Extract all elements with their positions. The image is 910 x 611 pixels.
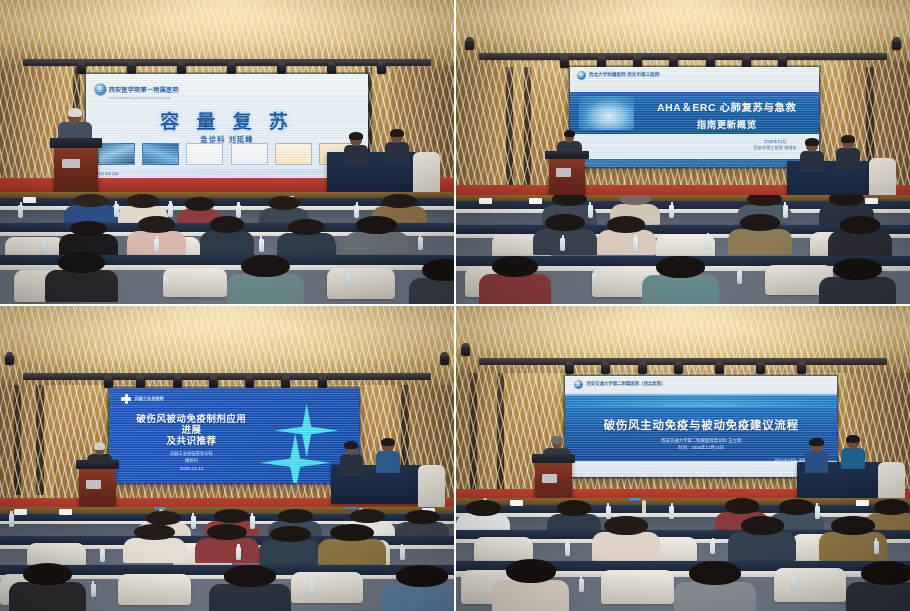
hospital-photo-thumb — [142, 143, 179, 166]
slide-header: 西北大学附属医院·西安市第三医院 — [577, 71, 659, 80]
slide-footer: 仁爱 精进 博学 创新 No.1 Xinyi Road, Xi'an — [86, 169, 367, 178]
spotlight-icon — [327, 64, 336, 74]
person-body — [828, 231, 892, 257]
audience-member — [409, 259, 454, 304]
lighting-truss — [479, 53, 888, 60]
person-head — [604, 516, 648, 535]
water-bottle — [168, 204, 173, 217]
audience-member — [819, 258, 896, 304]
person-head — [833, 258, 882, 280]
person-head — [656, 256, 705, 278]
lighting-truss — [23, 373, 432, 380]
spotlight-icon — [601, 364, 610, 374]
audience-member — [828, 216, 892, 253]
water-bottle — [9, 514, 14, 527]
slide-header-cn: 兵器工业总医院 — [134, 396, 163, 402]
audience-member — [381, 565, 454, 611]
slide-meta-date: 时间：2025年12月14日 — [576, 444, 827, 451]
moderator-body — [340, 454, 364, 475]
person-body — [45, 270, 118, 301]
chair — [774, 568, 847, 602]
certificate-thumb — [231, 143, 268, 166]
person-head — [356, 216, 397, 234]
audience-table — [456, 505, 910, 513]
podium-top — [76, 460, 120, 469]
person-head — [278, 509, 313, 523]
star-decoration — [275, 403, 339, 457]
university-logo-icon — [574, 380, 583, 389]
water-bottle — [100, 549, 105, 562]
water-bottle — [874, 541, 879, 554]
presentation-screen: 西北大学附属医院·西安市第三医院 AHA＆ERC 心肺复苏与急救 指南更新概览 … — [570, 67, 820, 167]
table-nametag — [59, 509, 72, 515]
table-nametag — [14, 509, 27, 515]
audience-member — [9, 563, 86, 611]
moderator — [836, 137, 860, 167]
audience-area — [456, 498, 910, 611]
person-body — [381, 584, 454, 611]
raised-arm — [642, 500, 646, 514]
table-nametag — [529, 198, 542, 204]
person-body — [592, 532, 660, 560]
slide-meta: 西安交通大学第二附属医院急诊科 王立明 时间：2025年12月14日 — [576, 437, 827, 452]
audience-member — [846, 561, 910, 611]
table-nametag — [479, 198, 492, 204]
person-head — [146, 511, 181, 524]
conference-photo-bottom-right: 西安交通大学第二附属医院（西北医院） 破伤风主动免疫与被动免疫建议流程 西安交通… — [456, 306, 910, 611]
spotlight-icon — [465, 40, 474, 50]
person-head — [73, 194, 108, 207]
person-head — [831, 516, 875, 535]
slide-header-en: The First Affiliated Hospital of Xi'an M… — [109, 97, 179, 100]
hospital-aerial-photo — [579, 96, 634, 130]
certificate-thumb — [186, 143, 223, 166]
spotlight-icon — [756, 364, 765, 374]
presentation-screen: 西安医学院第一附属医院 The First Affiliated Hospita… — [86, 74, 367, 177]
audience-member — [227, 255, 304, 304]
water-bottle — [592, 273, 597, 286]
slide-title: 破伤风主动免疫与被动免疫建议流程 — [576, 417, 827, 433]
person-body — [195, 538, 259, 563]
hospital-logo-icon — [95, 84, 106, 95]
audience-member — [345, 216, 409, 254]
podium-laptop — [86, 480, 101, 489]
person-head — [861, 561, 910, 585]
water-bottle — [400, 547, 405, 560]
person-head — [127, 194, 159, 208]
slide-header-cn: 西安交通大学第二附属医院（西北医院） — [586, 381, 665, 387]
spotlight-icon — [177, 64, 186, 74]
spotlight-icon — [277, 64, 286, 74]
water-bottle — [418, 237, 423, 250]
audience-member — [123, 524, 187, 559]
person-body — [674, 582, 756, 611]
water-bottle — [706, 236, 711, 249]
person-head — [134, 524, 175, 540]
slide-thumbnail-strip — [98, 144, 357, 165]
chair — [291, 572, 364, 603]
person-body — [597, 230, 656, 255]
water-bottle — [91, 584, 96, 597]
water-bottle — [792, 577, 797, 590]
slide-meta-author: 西安交通大学第二附属医院急诊科 王立明 — [576, 437, 827, 444]
audience-member — [59, 221, 118, 255]
water-bottle — [114, 204, 119, 217]
slide-title-line2: 指南更新概览 — [644, 117, 809, 131]
audience-member — [674, 561, 756, 611]
moderator-body — [376, 451, 400, 472]
water-bottle — [669, 506, 674, 519]
spotlight-icon — [440, 355, 449, 365]
photo-grid: 西安医学院第一附属医院 The First Affiliated Hospita… — [0, 0, 910, 611]
audience-member — [195, 524, 259, 559]
moderator-hair — [381, 438, 395, 446]
water-bottle — [579, 579, 584, 592]
water-bottle — [154, 239, 159, 252]
person-body — [318, 539, 386, 565]
audience-member — [492, 559, 569, 611]
table-nametag — [510, 500, 523, 506]
spotlight-icon — [461, 346, 470, 356]
spotlight-icon — [892, 40, 901, 50]
spotlight-icon — [245, 378, 254, 388]
slide-header: 兵器工业总医院 — [121, 394, 163, 404]
moderator-hair — [841, 135, 855, 143]
water-bottle — [565, 543, 570, 556]
person-head — [382, 194, 417, 208]
person-head — [506, 559, 555, 583]
audience-member — [597, 216, 656, 251]
slide-title-line3: 及共识推荐 — [124, 433, 259, 447]
slide-wave-decoration — [565, 395, 837, 407]
person-head — [224, 565, 276, 587]
spotlight-icon — [5, 355, 14, 365]
slide-meta: 2025年12月 西安市第三医院 胡继东 — [754, 139, 797, 152]
slide-title: 容 量 复 苏 — [86, 107, 367, 134]
moderator-hair — [349, 132, 363, 140]
spotlight-icon — [127, 64, 136, 74]
audience-member — [479, 256, 552, 302]
water-bottle — [710, 541, 715, 554]
water-bottle — [560, 238, 565, 251]
moderator — [805, 440, 829, 471]
spotlight-icon — [318, 378, 327, 388]
podium-laptop — [542, 474, 557, 483]
slide-header-cn: 西安医学院第一附属医院 — [109, 87, 179, 94]
spotlight-icon — [797, 364, 806, 374]
person-head — [58, 252, 104, 273]
person-body — [728, 532, 796, 560]
person-body — [200, 231, 254, 256]
speaker-hair — [94, 442, 105, 449]
person-body — [728, 229, 792, 255]
person-head — [607, 216, 645, 232]
audience-member — [259, 526, 323, 561]
person-head — [557, 500, 592, 516]
spotlight-icon — [281, 378, 290, 388]
person-head — [689, 561, 741, 585]
slide-meta: 兵器工业总医院急诊科 唐秋利 — [124, 451, 259, 465]
person-body — [9, 582, 86, 611]
moderator-body — [805, 451, 829, 472]
person-head — [270, 526, 311, 542]
audience-member — [209, 565, 291, 611]
person-head — [874, 499, 909, 515]
podium-laptop — [556, 168, 571, 176]
slide-title-line1: AHA＆ERC 心肺复苏与急救 — [644, 99, 809, 114]
person-head — [214, 509, 249, 523]
person-head — [405, 510, 440, 524]
person-head — [741, 516, 785, 535]
chair — [118, 574, 191, 605]
moderator — [841, 437, 865, 468]
person-body — [642, 275, 719, 304]
person-head — [330, 524, 374, 541]
person-head — [422, 259, 454, 281]
person-head — [829, 195, 864, 206]
medical-cross-icon — [121, 394, 131, 404]
spotlight-icon — [560, 58, 569, 68]
person-head — [210, 216, 245, 233]
moderator-hair — [344, 441, 358, 449]
person-head — [241, 255, 290, 278]
moderator — [800, 140, 824, 170]
moderator-hair — [846, 435, 860, 443]
slide-meta-dept: 兵器工业总医院急诊科 — [124, 451, 259, 458]
moderator-chair — [418, 465, 445, 514]
person-body — [846, 582, 910, 611]
slide-header: 西安交通大学第二附属医院（西北医院） — [574, 380, 665, 389]
moderator-hair — [390, 129, 404, 137]
water-bottle — [236, 547, 241, 560]
table-nametag — [23, 197, 36, 203]
audience-area — [456, 195, 910, 304]
hospital-logo-icon — [577, 71, 586, 80]
spotlight-icon — [104, 378, 113, 388]
person-head — [185, 197, 214, 210]
person-head — [466, 500, 501, 516]
chair — [601, 570, 674, 604]
spotlight-icon — [227, 64, 236, 74]
slide-meta-author: 唐秋利 — [124, 458, 259, 465]
person-body — [123, 538, 187, 563]
audience-area — [0, 192, 454, 304]
person-body — [819, 277, 896, 304]
conference-photo-top-left: 西安医学院第一附属医院 The First Affiliated Hospita… — [0, 0, 454, 304]
speaker-hair — [564, 130, 575, 137]
spotlight-icon — [136, 378, 145, 388]
spotlight-icon — [173, 378, 182, 388]
podium-top — [545, 151, 589, 159]
moderator — [344, 134, 368, 164]
person-head — [288, 219, 326, 236]
moderator-hair — [805, 138, 819, 146]
person-head — [207, 524, 248, 540]
star-decoration — [259, 434, 331, 483]
moderator-body — [385, 142, 409, 163]
spotlight-icon — [377, 64, 386, 74]
speaker-hair — [68, 108, 83, 117]
presentation-screen: 兵器工业总医院 破伤风被动免疫制剂应用 进展 及共识推荐 兵器工业总医院急诊科 … — [109, 388, 359, 483]
audience-member — [277, 219, 336, 255]
conference-photo-top-right: 西北大学附属医院·西安市第三医院 AHA＆ERC 心肺复苏与急救 指南更新概览 … — [456, 0, 910, 304]
audience-member — [318, 524, 386, 561]
person-head — [840, 216, 881, 233]
conference-photo-bottom-left: 兵器工业总医院 破伤风被动免疫制剂应用 进展 及共识推荐 兵器工业总医院急诊科 … — [0, 306, 454, 611]
spotlight-icon — [77, 64, 86, 74]
person-head — [350, 509, 385, 523]
person-body — [259, 540, 323, 565]
smartphone — [629, 498, 641, 501]
water-bottle — [259, 239, 264, 252]
chair — [163, 268, 227, 297]
water-bottle — [633, 238, 638, 251]
moderator — [376, 440, 400, 471]
hospital-photo-thumb — [98, 143, 135, 166]
person-body — [209, 584, 291, 611]
person-head — [70, 221, 108, 237]
audience-member — [592, 516, 660, 557]
spotlight-icon — [638, 364, 647, 374]
audience-area — [0, 507, 454, 611]
person-body — [492, 580, 569, 611]
moderator-body — [800, 151, 824, 172]
person-body — [479, 274, 552, 304]
person-head — [268, 196, 300, 210]
person-head — [492, 256, 538, 277]
person-head — [396, 565, 448, 587]
water-bottle — [163, 277, 168, 290]
speaker-hair — [551, 436, 563, 443]
slide-header-cn: 西北大学附属医院·西安市第三医院 — [589, 72, 659, 78]
audience-member — [45, 252, 118, 297]
water-bottle — [737, 271, 742, 284]
water-bottle — [309, 582, 314, 595]
moderator-hair — [809, 438, 823, 446]
slide-header: 西安医学院第一附属医院 The First Affiliated Hospita… — [95, 79, 179, 100]
person-head — [545, 214, 586, 231]
certificate-thumb — [275, 143, 312, 166]
audience-member — [64, 194, 118, 223]
slide-date: 2025-12-14 — [124, 466, 259, 471]
water-bottle — [18, 205, 23, 218]
moderator-body — [344, 145, 368, 166]
person-body — [409, 278, 454, 304]
slide-footer: 生命 至上 健康 · 相伴 · 同行 — [570, 159, 820, 167]
person-head — [23, 563, 72, 585]
moderator-body — [841, 448, 865, 469]
person-head — [725, 498, 760, 514]
person-body — [227, 274, 304, 304]
moderator — [340, 443, 364, 474]
water-bottle — [669, 205, 674, 218]
lighting-truss — [479, 358, 888, 365]
water-bottle — [345, 275, 350, 288]
chair — [327, 268, 395, 299]
spotlight-icon — [565, 364, 574, 374]
podium-laptop — [62, 159, 80, 169]
spotlight-icon — [715, 364, 724, 374]
audience-member — [728, 214, 792, 251]
audience-member — [728, 516, 796, 557]
podium-top — [532, 454, 576, 463]
person-head — [740, 214, 781, 231]
moderator-body — [836, 148, 860, 169]
audience-member — [200, 216, 254, 252]
person-head — [779, 499, 814, 515]
moderator — [385, 131, 409, 161]
slide-meta-author: 西安市第三医院 胡继东 — [754, 145, 797, 151]
spotlight-icon — [209, 378, 218, 388]
spotlight-icon — [674, 364, 683, 374]
person-head — [138, 216, 176, 233]
podium-top — [50, 138, 102, 148]
audience-member — [642, 256, 719, 304]
